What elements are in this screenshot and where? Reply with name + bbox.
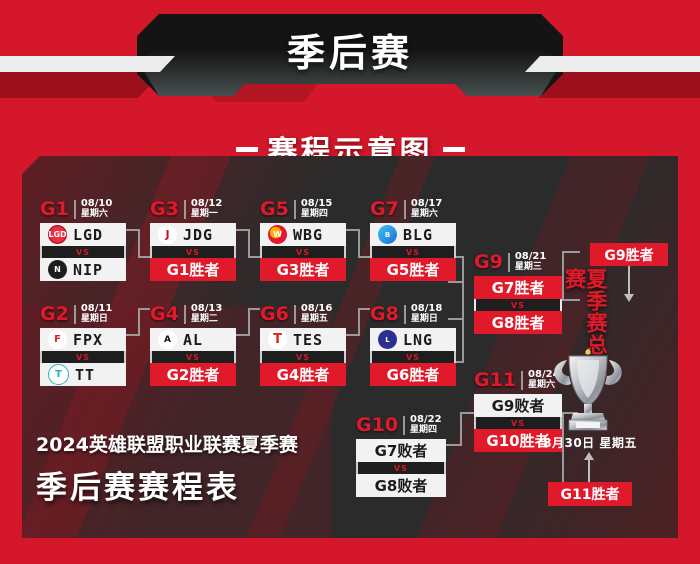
match-slot-top[interactable]: B BLG [370, 223, 456, 246]
match-header: G3 08/12 星期一 [150, 198, 236, 220]
team-name: JDG [183, 226, 213, 244]
match-date-value: 08/22 [410, 415, 441, 426]
match-date-value: 08/12 [191, 199, 222, 210]
match-slot-top[interactable]: G7败者 [356, 439, 446, 462]
match-id: G8 [370, 305, 399, 324]
advancing-team-label: G2胜者 [167, 364, 220, 385]
match-slot-top[interactable]: L LNG [370, 328, 456, 351]
match-header: G2 08/11 星期日 [40, 303, 126, 325]
match-date-value: 08/15 [301, 199, 332, 210]
match-date-value: 08/17 [411, 199, 442, 210]
match-date: 08/16 星期五 [301, 304, 332, 324]
g11-arrow-head [584, 452, 594, 460]
team-name: LNG [403, 331, 433, 349]
match-g10[interactable]: G10 08/22 星期四 G7败者 VS G8败者 [356, 414, 446, 497]
match-slot-top[interactable]: W WBG [260, 223, 346, 246]
match-id: G4 [150, 305, 179, 324]
team-name: BLG [403, 226, 433, 244]
match-id: G2 [40, 305, 69, 324]
match-date-value: 08/13 [191, 304, 222, 315]
match-header: G5 08/15 星期四 [260, 198, 346, 220]
match-date-value: 08/21 [515, 252, 546, 263]
match-id: G5 [260, 200, 289, 219]
connector [358, 308, 360, 336]
match-weekday: 星期二 [191, 315, 222, 324]
match-g4[interactable]: G4 08/13 星期二 A AL VS G2胜者 [150, 303, 236, 386]
advancing-team-label: G4胜者 [277, 364, 330, 385]
divider [74, 305, 76, 324]
advancing-team-label: G7胜者 [492, 277, 545, 298]
match-slot-bottom[interactable]: G6胜者 [370, 363, 456, 386]
vs-divider: VS [260, 246, 346, 258]
connector [358, 229, 360, 258]
connector [138, 308, 150, 310]
match-slot-bottom[interactable]: G3胜者 [260, 258, 346, 281]
match-weekday: 星期四 [410, 426, 441, 435]
jdg-logo: J [158, 225, 177, 244]
tt-logo: T [48, 364, 69, 385]
final-date: 8月30日 星期五 [530, 434, 650, 451]
match-date: 08/18 星期日 [411, 304, 442, 324]
divider [403, 416, 405, 435]
team-name: TES [293, 331, 323, 349]
team-name: AL [183, 331, 203, 349]
match-slot-top[interactable]: T TES [260, 328, 346, 351]
divider [294, 305, 296, 324]
advancing-team-label: G7败者 [375, 440, 428, 461]
blg-logo: B [378, 225, 397, 244]
connector [562, 251, 580, 253]
match-header: G6 08/16 星期五 [260, 303, 346, 325]
team-name: FPX [73, 331, 103, 349]
final-arrow-line [628, 266, 630, 296]
advancing-team-label: G1胜者 [167, 259, 220, 280]
lgd-logo: LGD [48, 225, 67, 244]
vs-divider: VS [260, 351, 346, 363]
vs-divider: VS [356, 462, 446, 474]
vs-divider: VS [150, 351, 236, 363]
match-slot-bottom[interactable]: G8败者 [356, 474, 446, 497]
match-id: G11 [474, 371, 516, 390]
match-date: 08/13 星期二 [191, 304, 222, 324]
banner-sash-left [0, 56, 175, 72]
match-date: 08/15 星期四 [301, 199, 332, 219]
advancing-team-label: G3胜者 [277, 259, 330, 280]
match-date: 08/12 星期一 [191, 199, 222, 219]
connector [248, 229, 250, 258]
match-slot-top[interactable]: J JDG [150, 223, 236, 246]
match-g3[interactable]: G3 08/12 星期一 J JDG VS G1胜者 [150, 198, 236, 281]
match-slot-bottom[interactable]: G5胜者 [370, 258, 456, 281]
match-id: G9 [474, 253, 503, 272]
match-g5[interactable]: G5 08/15 星期四 W WBG VS G3胜者 [260, 198, 346, 281]
vs-divider: VS [150, 246, 236, 258]
match-slot-bottom[interactable]: G2胜者 [150, 363, 236, 386]
title-dash-left [236, 147, 258, 152]
match-slot-top[interactable]: F FPX [40, 328, 126, 351]
fpx-logo: F [48, 330, 67, 349]
match-date-value: 08/10 [81, 199, 112, 210]
g11-winner-label: G11胜者 [561, 484, 620, 504]
match-date-value: 08/18 [411, 304, 442, 315]
connector [460, 412, 474, 414]
divider [404, 200, 406, 219]
match-date-value: 08/11 [81, 304, 112, 315]
match-weekday: 星期日 [81, 315, 112, 324]
top-banner: 季后赛 [0, 0, 700, 115]
advancing-team-label: G8败者 [375, 475, 428, 496]
lng-logo: L [378, 330, 397, 349]
connector [248, 308, 260, 310]
advancing-team-label: G5胜者 [387, 259, 440, 280]
match-weekday: 星期四 [301, 210, 332, 219]
divider [184, 200, 186, 219]
connector [358, 308, 370, 310]
nip-logo: N [48, 260, 67, 279]
match-header: G7 08/17 星期六 [370, 198, 456, 220]
match-slot-bottom[interactable]: T TT [40, 363, 126, 386]
connector [448, 281, 462, 283]
match-id: G1 [40, 200, 69, 219]
connector [462, 256, 464, 361]
match-g8[interactable]: G8 08/18 星期日 L LNG VS G6胜者 [370, 303, 456, 386]
connector [248, 308, 250, 336]
match-weekday: 星期三 [515, 263, 546, 272]
match-weekday: 星期五 [301, 315, 332, 324]
vs-divider: VS [40, 351, 126, 363]
team-name: WBG [293, 226, 323, 244]
g11-arrow-line [588, 460, 590, 482]
match-weekday: 星期六 [411, 210, 442, 219]
team-name: LGD [73, 226, 103, 244]
trophy-icon [547, 346, 629, 432]
match-date-value: 08/16 [301, 304, 332, 315]
connector [138, 229, 140, 258]
match-slot-top[interactable]: G7胜者 [474, 276, 562, 299]
match-weekday: 星期日 [411, 315, 442, 324]
match-date: 08/17 星期六 [411, 199, 442, 219]
divider [521, 371, 523, 390]
divider [184, 305, 186, 324]
match-date: 08/22 星期四 [410, 415, 441, 435]
g9-winner-label: G9胜者 [604, 245, 653, 265]
match-header: G4 08/13 星期二 [150, 303, 236, 325]
vs-divider: VS [370, 246, 456, 258]
g11-winner-tag[interactable]: G11胜者 [548, 482, 632, 506]
match-date: 08/10 星期六 [81, 199, 112, 219]
connector [248, 256, 260, 258]
divider [74, 200, 76, 219]
team-name: TT [75, 366, 95, 384]
divider [294, 200, 296, 219]
match-slot-top[interactable]: A AL [150, 328, 236, 351]
connector [138, 256, 150, 258]
match-header: G1 08/10 星期六 [40, 198, 126, 220]
vs-divider: VS [370, 351, 456, 363]
connector [358, 256, 370, 258]
match-header: G9 08/21 星期三 [474, 251, 562, 273]
advancing-team-label: G8胜者 [492, 312, 545, 333]
g9-winner-tag[interactable]: G9胜者 [590, 243, 668, 266]
banner-sash-right [525, 56, 700, 72]
team-name: NIP [73, 261, 103, 279]
match-date: 08/11 星期日 [81, 304, 112, 324]
wbg-logo: W [268, 225, 287, 244]
match-g7[interactable]: G7 08/17 星期六 B BLG VS G5胜者 [370, 198, 456, 281]
advancing-team-label: G6胜者 [387, 364, 440, 385]
connector [460, 412, 462, 446]
match-weekday: 星期六 [81, 210, 112, 219]
advancing-team-label: G9败者 [492, 395, 545, 416]
match-header: G10 08/22 星期四 [356, 414, 446, 436]
vs-divider: VS [474, 299, 562, 311]
match-g1[interactable]: G1 08/10 星期六 LGD LGD VS N NIP [40, 198, 126, 281]
match-slot-top[interactable]: LGD LGD [40, 223, 126, 246]
divider [508, 253, 510, 272]
match-id: G10 [356, 416, 398, 435]
match-slot-bottom[interactable]: G8胜者 [474, 311, 562, 334]
match-id: G3 [150, 200, 179, 219]
match-slot-bottom[interactable]: G4胜者 [260, 363, 346, 386]
match-date: 08/21 星期三 [515, 252, 546, 272]
match-g9[interactable]: G9 08/21 星期三 G7胜者 VS G8胜者 [474, 251, 562, 334]
match-slot-bottom[interactable]: G1胜者 [150, 258, 236, 281]
divider [404, 305, 406, 324]
match-id: G7 [370, 200, 399, 219]
brand-block: 2024英雄联盟职业联赛夏季赛 季后赛赛程表 [36, 430, 316, 507]
al-logo: A [158, 330, 177, 349]
match-g2[interactable]: G2 08/11 星期日 F FPX VS T TT [40, 303, 126, 386]
tes-logo: T [268, 330, 287, 349]
connector [138, 308, 140, 336]
brand-line-2: 季后赛赛程表 [36, 462, 316, 507]
match-header: G8 08/18 星期日 [370, 303, 456, 325]
match-g6[interactable]: G6 08/16 星期五 T TES VS G4胜者 [260, 303, 346, 386]
brand-line-1: 2024英雄联盟职业联赛夏季赛 [36, 430, 316, 457]
title-dash-right [443, 147, 465, 152]
match-weekday: 星期一 [191, 210, 222, 219]
banner-title: 季后赛 [137, 14, 563, 84]
match-slot-bottom[interactable]: N NIP [40, 258, 126, 281]
match-id: G6 [260, 305, 289, 324]
final-arrow-head [624, 294, 634, 302]
vs-divider: VS [40, 246, 126, 258]
